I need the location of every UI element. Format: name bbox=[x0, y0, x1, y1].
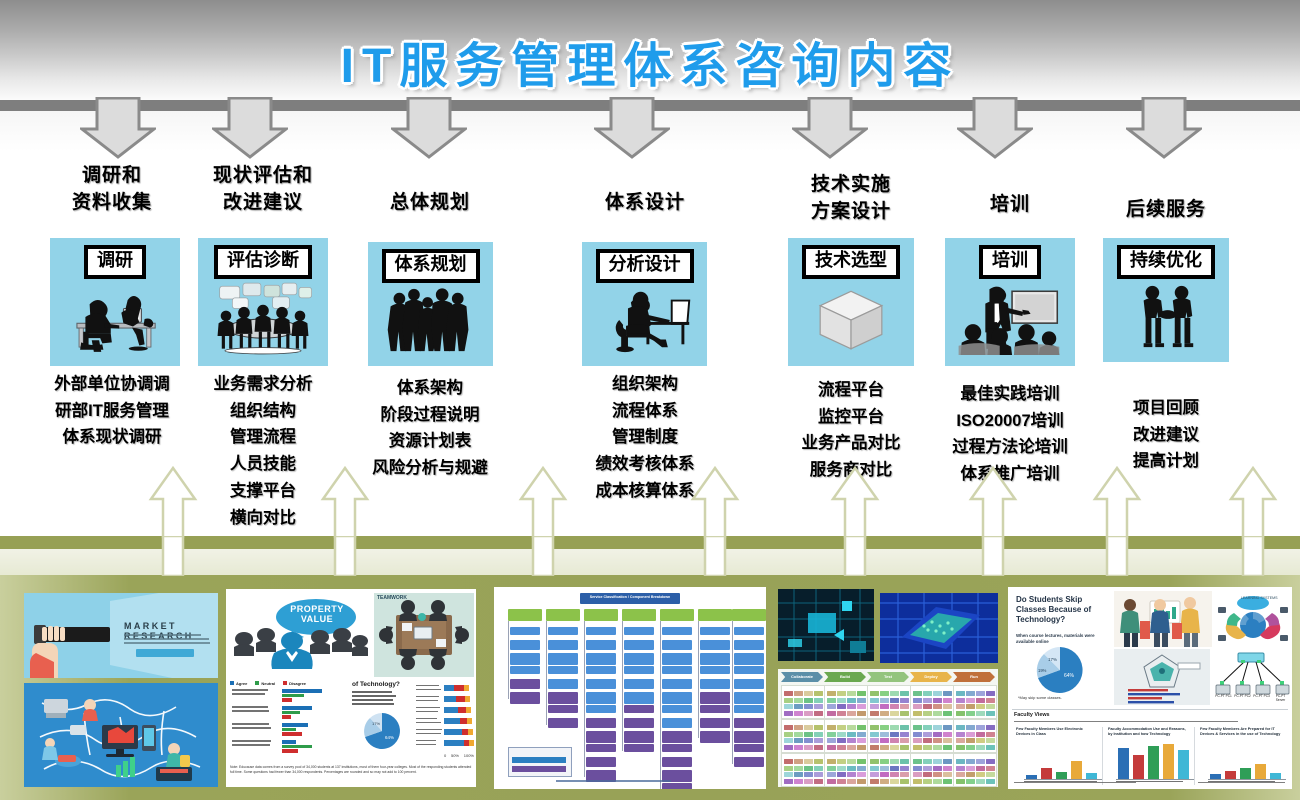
up-arrow-6 bbox=[968, 536, 1018, 576]
tool-logo bbox=[857, 759, 866, 764]
text-line bbox=[416, 696, 439, 697]
up-arrow-1 bbox=[148, 536, 198, 576]
flowchart-node bbox=[700, 718, 730, 728]
stage-label: Run bbox=[953, 674, 995, 679]
tool-logo bbox=[857, 766, 866, 771]
panel-property-value-survey[interactable]: PROPERTY VALUE TEAMWORKAgreeNeutralDisag… bbox=[226, 589, 476, 787]
network-node-labels: PC-PT PC1PC-PT PC2PC-PT PC3PC-PT Server bbox=[1214, 695, 1290, 703]
tool-logo bbox=[890, 759, 899, 764]
stage-chevron: Build bbox=[824, 672, 866, 682]
flowchart-node bbox=[586, 679, 616, 689]
tool-logo bbox=[976, 766, 985, 771]
tool-logo bbox=[900, 704, 909, 709]
text-line bbox=[416, 729, 442, 730]
tool-logo bbox=[880, 766, 889, 771]
bar-segment bbox=[469, 740, 474, 746]
tool-logo bbox=[804, 704, 813, 709]
flowchart-node bbox=[548, 718, 578, 728]
tool-logo bbox=[890, 738, 899, 743]
tool-logo bbox=[827, 759, 836, 764]
tool-logo bbox=[933, 698, 942, 703]
tool-logo bbox=[900, 766, 909, 771]
tool-logo bbox=[794, 779, 803, 784]
icon-panel-6[interactable]: 培训 bbox=[945, 238, 1075, 366]
icon-panel-2[interactable]: 评估诊断 bbox=[198, 238, 328, 366]
tool-logo bbox=[913, 759, 922, 764]
tool-logo bbox=[956, 745, 965, 750]
flowchart-node bbox=[586, 705, 616, 713]
tool-logo bbox=[847, 698, 856, 703]
text-line bbox=[232, 689, 268, 691]
tool-logo bbox=[890, 725, 899, 730]
tool-logo bbox=[784, 711, 793, 716]
axis-tick: 50% bbox=[451, 753, 459, 758]
tool-logo bbox=[837, 732, 846, 737]
tool-logo bbox=[986, 759, 995, 764]
legend-bar bbox=[512, 766, 566, 772]
panel-service-flowchart[interactable]: Service Classification / Component Break… bbox=[494, 587, 766, 789]
svg-text:LEARNING SYSTEMS: LEARNING SYSTEMS bbox=[1241, 596, 1278, 600]
faculty-chart: Few Faculty Members Use Electronic Devic… bbox=[1014, 727, 1103, 785]
tool-logo bbox=[986, 711, 995, 716]
faculty-bar bbox=[1041, 768, 1052, 779]
flowchart-node bbox=[662, 783, 692, 789]
tool-logo bbox=[804, 738, 813, 743]
text-line bbox=[416, 718, 437, 719]
tool-logo bbox=[857, 698, 866, 703]
tool-logo bbox=[880, 691, 889, 696]
tool-logo bbox=[827, 766, 836, 771]
tool-logo bbox=[900, 772, 909, 777]
tool-logo bbox=[784, 772, 793, 777]
bullet-item: 组织架构 bbox=[530, 371, 760, 398]
text-line bbox=[232, 727, 271, 729]
meeting-table-illustration: TEAMWORK bbox=[374, 593, 474, 677]
tool-logo bbox=[794, 772, 803, 777]
tool-logo bbox=[784, 725, 793, 730]
tool-logo bbox=[976, 732, 985, 737]
up-arrow-3 bbox=[518, 466, 568, 538]
icon-panel-5[interactable]: 技术选型 bbox=[788, 238, 914, 366]
tool-logo bbox=[986, 779, 995, 784]
bar bbox=[282, 694, 304, 698]
bullet-item: 改进建议 bbox=[1051, 422, 1281, 449]
tool-logo bbox=[814, 759, 823, 764]
tool-logo bbox=[943, 772, 952, 777]
tool-logo bbox=[956, 772, 965, 777]
tool-logo bbox=[870, 698, 879, 703]
tool-logo bbox=[933, 759, 942, 764]
flowchart-node bbox=[586, 731, 616, 743]
up-arrow-7 bbox=[1092, 466, 1142, 538]
tool-logo bbox=[890, 732, 899, 737]
tool-logo bbox=[900, 738, 909, 743]
network-node-label: PC-PT PC3 bbox=[1253, 695, 1271, 703]
tool-logo bbox=[976, 711, 985, 716]
legend-swatch bbox=[255, 681, 259, 685]
tool-logo bbox=[976, 772, 985, 777]
tool-logo bbox=[870, 745, 879, 750]
tool-logo bbox=[794, 691, 803, 696]
flowchart-connector bbox=[660, 621, 661, 789]
panel-market-research[interactable]: MARKET RESEARCH bbox=[18, 587, 218, 787]
legend-label: Neutral bbox=[261, 681, 275, 686]
flowchart-node bbox=[548, 679, 578, 689]
tool-logo bbox=[956, 698, 965, 703]
tool-logo bbox=[976, 698, 985, 703]
text-line bbox=[416, 722, 441, 723]
tool-logo bbox=[890, 772, 899, 777]
tool-group bbox=[781, 753, 825, 787]
icon-panel-7[interactable]: 持续优化 bbox=[1103, 238, 1229, 362]
tool-logo bbox=[837, 779, 846, 784]
learn-more-button[interactable] bbox=[136, 649, 194, 657]
legend-item: Disagree bbox=[283, 681, 306, 686]
text-line bbox=[416, 711, 438, 712]
tool-logo bbox=[900, 745, 909, 750]
faculty-chart-title: Few Faculty Members Are Prepared for IT … bbox=[1200, 727, 1282, 736]
flowchart-node bbox=[624, 744, 654, 752]
text-line bbox=[1014, 721, 1238, 722]
tool-logo bbox=[784, 766, 793, 771]
flowchart-node bbox=[548, 627, 578, 635]
tool-logo bbox=[966, 691, 975, 696]
flowchart-connector bbox=[508, 621, 509, 699]
text-line bbox=[416, 744, 436, 745]
flowchart-connector bbox=[546, 621, 547, 725]
tool-logo bbox=[794, 738, 803, 743]
flowchart-node bbox=[586, 757, 616, 767]
tool-logo bbox=[966, 732, 975, 737]
tool-logo bbox=[847, 725, 856, 730]
bar bbox=[282, 689, 322, 693]
tool-logo bbox=[933, 779, 942, 784]
tool-logo bbox=[814, 732, 823, 737]
flowchart-node bbox=[586, 718, 616, 728]
svg-text:17%: 17% bbox=[1048, 657, 1057, 662]
up-arrow-6 bbox=[968, 466, 1018, 538]
tool-logo bbox=[986, 732, 995, 737]
faculty-bar bbox=[1178, 750, 1189, 779]
tool-group bbox=[824, 719, 868, 753]
axis-tick: 100% bbox=[464, 753, 474, 758]
tool-logo bbox=[890, 704, 899, 709]
tool-landscape: CollaborateBuildTestDeployRun bbox=[778, 669, 998, 787]
bar-segment bbox=[444, 696, 456, 702]
flowchart-header-box bbox=[622, 609, 656, 621]
tool-logo bbox=[933, 745, 942, 750]
tool-logo bbox=[827, 711, 836, 716]
tool-logo bbox=[870, 711, 879, 716]
tool-logo bbox=[827, 738, 836, 743]
tool-logo bbox=[880, 698, 889, 703]
network-node-label: PC-PT PC1 bbox=[1215, 695, 1233, 703]
legend-swatch bbox=[230, 681, 234, 685]
flowchart-node bbox=[624, 718, 654, 728]
flowchart-title: Service Classification / Component Break… bbox=[580, 595, 680, 599]
icon-badge-6: 培训 bbox=[979, 245, 1041, 279]
tool-logo bbox=[900, 759, 909, 764]
tool-group bbox=[867, 685, 911, 719]
column-title-line: 总体规划 bbox=[320, 190, 540, 217]
technology-pie-chart: of Technology? 64% 17% bbox=[350, 681, 412, 759]
tool-logo bbox=[814, 745, 823, 750]
radar-and-bars bbox=[1114, 649, 1210, 705]
tool-logo bbox=[870, 772, 879, 777]
tool-logo bbox=[956, 732, 965, 737]
tool-logo bbox=[933, 772, 942, 777]
flowchart-node bbox=[662, 653, 692, 665]
tool-logo bbox=[956, 711, 965, 716]
flowchart-node bbox=[624, 692, 654, 704]
bar-segment bbox=[460, 718, 467, 724]
flowchart-node bbox=[700, 705, 730, 713]
network-node-label: PC-PT PC2 bbox=[1234, 695, 1252, 703]
icon-panel-3[interactable]: 体系规划 bbox=[368, 242, 493, 366]
tool-logo bbox=[900, 698, 909, 703]
tool-logo bbox=[943, 704, 952, 709]
tool-logo bbox=[847, 772, 856, 777]
flowchart-node bbox=[624, 679, 654, 689]
property-value-title: PROPERTY VALUE bbox=[288, 605, 346, 625]
column-title-line: 体系设计 bbox=[535, 190, 755, 217]
tool-logo bbox=[804, 779, 813, 784]
tool-logo bbox=[880, 725, 889, 730]
tool-logo bbox=[986, 704, 995, 709]
tool-logo bbox=[814, 698, 823, 703]
down-arrow-2 bbox=[212, 97, 288, 159]
tool-logo bbox=[837, 738, 846, 743]
flowchart-node bbox=[586, 653, 616, 665]
chart-legend: AgreeNeutralDisagree bbox=[230, 681, 370, 685]
text-line bbox=[416, 707, 440, 708]
network-diagram: PC-PT PC1PC-PT PC2PC-PT PC3PC-PT Server bbox=[1214, 649, 1290, 707]
tool-logo bbox=[923, 711, 932, 716]
flowchart-node bbox=[548, 692, 578, 704]
flowchart-node bbox=[662, 757, 692, 767]
tool-logo bbox=[857, 691, 866, 696]
skip-classes-title: Do Students Skip Classes Because of Tech… bbox=[1016, 595, 1106, 624]
tool-group bbox=[953, 753, 997, 787]
market-research-banner: MARKET RESEARCH bbox=[24, 593, 218, 678]
person-at-computer-icon bbox=[582, 283, 707, 355]
tool-logo bbox=[794, 745, 803, 750]
tool-logo bbox=[880, 779, 889, 784]
tool-logo bbox=[923, 704, 932, 709]
tool-logo bbox=[976, 691, 985, 696]
tool-logo bbox=[784, 704, 793, 709]
handshake-icon bbox=[1103, 279, 1229, 351]
tool-logo bbox=[966, 704, 975, 709]
tool-logo bbox=[837, 759, 846, 764]
tool-logo bbox=[794, 698, 803, 703]
tool-logo bbox=[814, 779, 823, 784]
tool-logo bbox=[847, 745, 856, 750]
tool-logo bbox=[913, 766, 922, 771]
icon-badge-1: 调研 bbox=[84, 245, 146, 279]
tool-logo bbox=[847, 691, 856, 696]
circuit-photo-2 bbox=[880, 593, 998, 663]
flowchart-node bbox=[662, 718, 692, 728]
tool-logo bbox=[784, 745, 793, 750]
tool-logo bbox=[890, 711, 899, 716]
bar-segment bbox=[444, 718, 460, 724]
icon-badge-5: 技术选型 bbox=[802, 245, 900, 279]
flowchart-node bbox=[624, 640, 654, 650]
tool-logo bbox=[900, 732, 909, 737]
tool-logo bbox=[976, 704, 985, 709]
tool-logo bbox=[847, 766, 856, 771]
tool-logo bbox=[804, 732, 813, 737]
icon-badge-7: 持续优化 bbox=[1117, 245, 1215, 279]
tool-logo bbox=[913, 691, 922, 696]
up-arrow-2 bbox=[320, 536, 370, 576]
bullet-item: 体系架构 bbox=[315, 375, 545, 402]
bar bbox=[282, 745, 312, 749]
tool-logo bbox=[913, 772, 922, 777]
bar-segment bbox=[444, 740, 464, 746]
flowchart-node bbox=[548, 666, 578, 674]
bar-segment bbox=[465, 696, 470, 702]
text-line bbox=[232, 693, 265, 695]
tool-logo bbox=[933, 711, 942, 716]
tool-group bbox=[781, 685, 825, 719]
flowchart-node bbox=[586, 627, 616, 635]
tool-logo bbox=[870, 738, 879, 743]
text-line bbox=[352, 695, 396, 697]
tool-logo bbox=[827, 745, 836, 750]
tool-logo bbox=[857, 779, 866, 784]
tool-logo bbox=[814, 738, 823, 743]
flowchart-node bbox=[734, 692, 764, 704]
cloud-diagram: LEARNING SYSTEMS bbox=[1216, 591, 1290, 647]
flowchart-node bbox=[586, 640, 616, 650]
skip-classes-footnote: *May skip some classes. bbox=[1018, 695, 1062, 700]
flowchart-connector bbox=[698, 621, 699, 738]
tool-logo bbox=[804, 772, 813, 777]
tool-logo bbox=[923, 745, 932, 750]
tool-group bbox=[953, 685, 997, 719]
flowchart-node bbox=[734, 679, 764, 689]
tool-logo bbox=[814, 711, 823, 716]
panel-education-technology[interactable]: Do Students Skip Classes Because of Tech… bbox=[1008, 587, 1292, 789]
axis-ticks: 050%100% bbox=[444, 753, 474, 758]
tool-logo bbox=[847, 711, 856, 716]
icon-panel-1[interactable]: 调研 bbox=[50, 238, 180, 366]
presenter-audience-icon bbox=[945, 279, 1075, 355]
bar bbox=[282, 723, 308, 727]
up-arrow-7 bbox=[1092, 536, 1142, 576]
tool-logo bbox=[880, 738, 889, 743]
tool-logo bbox=[880, 772, 889, 777]
flowchart-connector bbox=[732, 621, 733, 764]
tool-logo bbox=[857, 745, 866, 750]
tool-logo bbox=[870, 759, 879, 764]
bar-segment bbox=[444, 685, 454, 691]
faculty-bar bbox=[1056, 772, 1067, 779]
tool-logo bbox=[890, 766, 899, 771]
bar bbox=[282, 711, 300, 715]
icon-panel-4[interactable]: 分析设计 bbox=[582, 242, 707, 366]
tool-logo bbox=[956, 759, 965, 764]
text-line bbox=[416, 733, 441, 734]
tool-logo bbox=[923, 691, 932, 696]
tool-logo bbox=[923, 766, 932, 771]
tool-logo bbox=[847, 779, 856, 784]
tool-logo bbox=[847, 759, 856, 764]
legend-bar bbox=[512, 757, 566, 763]
flowchart-header-box bbox=[660, 609, 694, 621]
tool-logo bbox=[857, 704, 866, 709]
up-arrow-4 bbox=[690, 466, 740, 538]
axis-tick: 0 bbox=[444, 753, 446, 758]
up-arrow-3 bbox=[518, 536, 568, 576]
tool-logo bbox=[956, 691, 965, 696]
svg-text:64%: 64% bbox=[1064, 673, 1075, 679]
axis-line bbox=[1208, 779, 1286, 780]
page-title: IT服务管理体系咨询内容 bbox=[0, 26, 1300, 96]
tool-logo bbox=[923, 725, 932, 730]
tool-logo bbox=[986, 725, 995, 730]
tool-logo bbox=[986, 698, 995, 703]
flowchart-header-box bbox=[584, 609, 618, 621]
text-line bbox=[416, 740, 436, 741]
text-line bbox=[352, 703, 394, 705]
tool-logo bbox=[890, 779, 899, 784]
tool-logo bbox=[943, 745, 952, 750]
tool-logo bbox=[827, 732, 836, 737]
bullet-item: 流程体系 bbox=[530, 398, 760, 425]
stage-label: Test bbox=[867, 674, 909, 679]
tool-logo bbox=[857, 725, 866, 730]
tool-logo bbox=[827, 779, 836, 784]
people-group-icon bbox=[368, 283, 493, 355]
tool-logo bbox=[880, 711, 889, 716]
legend-label: Agree bbox=[236, 681, 247, 686]
tool-logo bbox=[933, 691, 942, 696]
tool-logo bbox=[870, 691, 879, 696]
tool-logo bbox=[923, 759, 932, 764]
tool-logo bbox=[784, 732, 793, 737]
tool-logo bbox=[933, 738, 942, 743]
tool-group bbox=[867, 719, 911, 753]
tool-group bbox=[867, 753, 911, 787]
bar bbox=[282, 732, 302, 736]
tool-logo bbox=[837, 745, 846, 750]
tool-logo bbox=[966, 711, 975, 716]
tool-logo bbox=[923, 772, 932, 777]
axis-line bbox=[1024, 779, 1102, 780]
tool-group bbox=[781, 719, 825, 753]
tool-logo bbox=[900, 779, 909, 784]
tool-logo bbox=[870, 766, 879, 771]
panel-devops-landscape[interactable]: CollaborateBuildTestDeployRun bbox=[772, 587, 1000, 789]
flowchart-node bbox=[624, 731, 654, 743]
tool-logo bbox=[956, 779, 965, 784]
tool-group bbox=[910, 753, 954, 787]
tool-logo bbox=[890, 691, 899, 696]
tool-logo bbox=[837, 772, 846, 777]
tool-logo bbox=[976, 725, 985, 730]
flowchart-node bbox=[734, 653, 764, 665]
stacked-bar-chart: 050%100% bbox=[416, 681, 474, 761]
stage-chevron: Test bbox=[867, 672, 909, 682]
faculty-views-title: Faculty Views bbox=[1014, 712, 1050, 718]
tool-logo bbox=[943, 725, 952, 730]
flowchart-node bbox=[662, 744, 692, 752]
column-bullets-7: 项目回顾改进建议提高计划 bbox=[1051, 395, 1281, 475]
tool-logo bbox=[933, 725, 942, 730]
